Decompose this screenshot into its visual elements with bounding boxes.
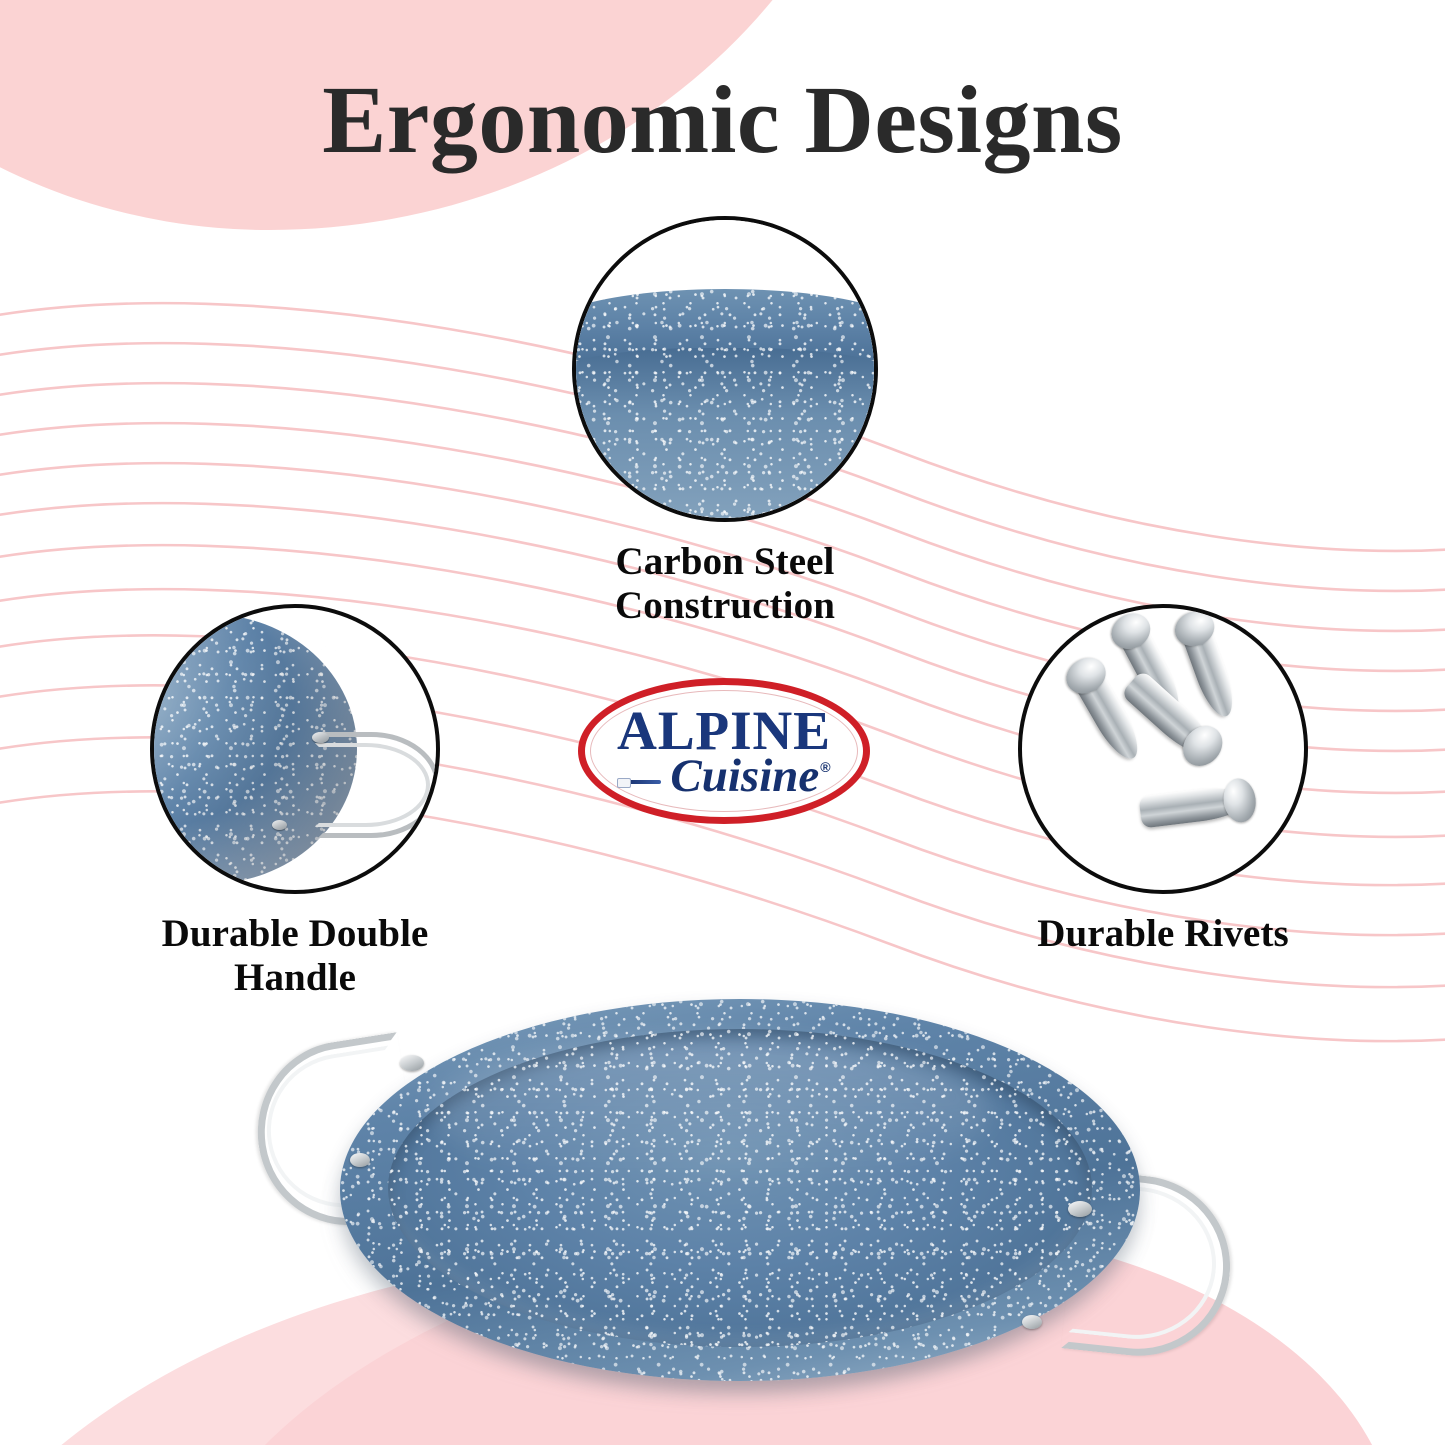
page-title: Ergonomic Designs <box>0 64 1445 175</box>
registered-trademark-symbol: ® <box>820 759 830 775</box>
rivet-icon <box>1138 784 1249 829</box>
brand-logo: ALPINE Cuisine ® <box>578 678 870 824</box>
callout-rivets: Durable Rivets <box>1018 604 1308 894</box>
utensil-icon <box>617 778 667 786</box>
brand-logo-alpine: ALPINE <box>617 704 831 758</box>
product-image-comal-pan <box>240 985 1220 1415</box>
pan-rivet <box>400 1055 424 1071</box>
pan-rivet <box>350 1153 370 1167</box>
pan-rim-closeup-image <box>572 216 878 522</box>
infographic-canvas: Ergonomic Designs Carbon Steel Construct… <box>0 0 1445 1445</box>
pan-rivet <box>1022 1315 1042 1329</box>
callout-carbon-steel: Carbon Steel Construction <box>572 216 878 522</box>
pan-rivet <box>1068 1201 1092 1217</box>
pan-handle-closeup-image <box>150 604 440 894</box>
brand-logo-cuisine: Cuisine <box>670 753 819 800</box>
callout-carbon-steel-label: Carbon Steel Construction <box>525 540 925 629</box>
rivets-closeup-image <box>1018 604 1308 894</box>
callout-rivets-label: Durable Rivets <box>953 912 1373 956</box>
callout-double-handle: Durable Double Handle <box>150 604 440 894</box>
rivet-icon <box>1179 621 1240 721</box>
pan-highlight <box>430 1037 990 1187</box>
